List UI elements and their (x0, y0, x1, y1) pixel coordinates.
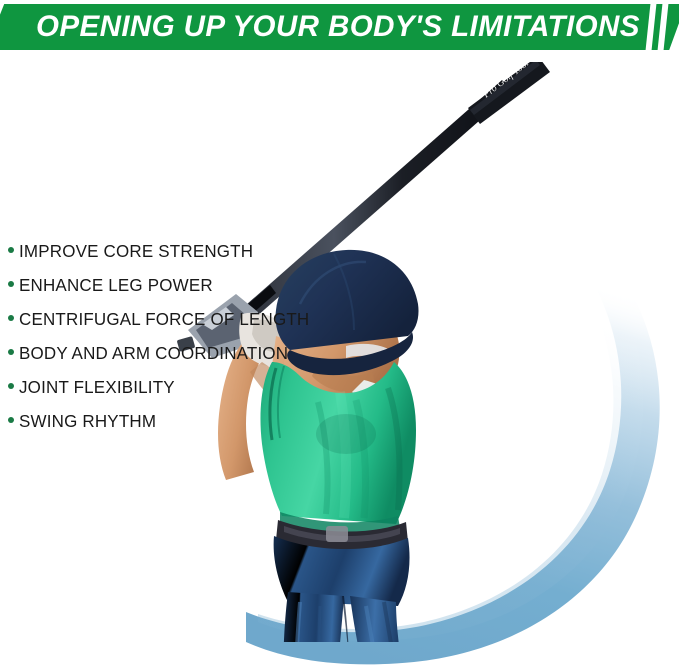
bullet-dot-icon (8, 417, 14, 423)
golfer-pants (274, 536, 434, 642)
list-item: SWING RHYTHM (8, 411, 318, 445)
list-item: BODY AND ARM COORDINATION (8, 343, 318, 377)
list-item: CENTRIFUGAL FORCE OF LENGTH (8, 309, 318, 343)
benefit-label: SWING RHYTHM (19, 411, 156, 432)
bullet-dot-icon (8, 315, 14, 321)
benefits-list: IMPROVE CORE STRENGTH ENHANCE LEG POWER … (8, 241, 318, 445)
benefit-label: JOINT FLEXIBILITY (19, 377, 175, 398)
list-item: JOINT FLEXIBILITY (8, 377, 318, 411)
bullet-dot-icon (8, 281, 14, 287)
benefit-label: ENHANCE LEG POWER (19, 275, 213, 296)
benefit-label: BODY AND ARM COORDINATION (19, 343, 288, 364)
benefit-label: IMPROVE CORE STRENGTH (19, 241, 253, 262)
benefit-label: CENTRIFUGAL FORCE OF LENGTH (19, 309, 309, 330)
list-item: IMPROVE CORE STRENGTH (8, 241, 318, 275)
banner-title: OPENING UP YOUR BODY'S LIMITATIONS (36, 4, 640, 50)
header-banner: OPENING UP YOUR BODY'S LIMITATIONS (0, 0, 679, 58)
bullet-dot-icon (8, 349, 14, 355)
poster-canvas: Pro Golf Tool (0, 0, 679, 669)
list-item: ENHANCE LEG POWER (8, 275, 318, 309)
bullet-dot-icon (8, 247, 14, 253)
bullet-dot-icon (8, 383, 14, 389)
